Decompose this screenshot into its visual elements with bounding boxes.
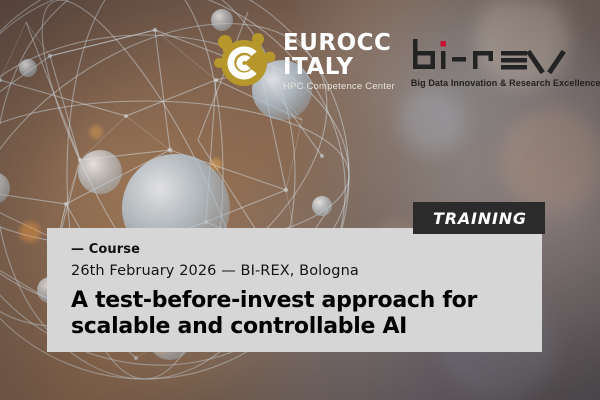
eurocc-atom-mark-icon (212, 30, 276, 94)
eurocc-line1: EUROCC (283, 32, 395, 55)
eurocc-line2: ITALY (283, 56, 395, 79)
event-date-location: 26th February 2026 — BI-REX, Bologna (71, 262, 542, 280)
event-title: A test-before-invest approach for scalab… (71, 288, 542, 339)
eurocc-italy-logo: EUROCC ITALY HPC Competence Center (212, 30, 395, 94)
status-badge: TRAINING (413, 202, 545, 234)
birex-wordmark-icon (411, 37, 581, 75)
event-title-line1: A test-before-invest approach for (71, 288, 477, 313)
eurocc-wordmark: EUROCC ITALY HPC Competence Center (283, 32, 395, 92)
eurocc-tagline: HPC Competence Center (283, 82, 395, 92)
logo-row: EUROCC ITALY HPC Competence Center (212, 30, 600, 94)
event-banner: EUROCC ITALY HPC Competence Center (0, 0, 600, 400)
status-badge-label: TRAINING (433, 209, 527, 228)
event-category: — Course (71, 242, 542, 258)
birex-logo: Big Data Innovation & Research Excellenc… (411, 37, 600, 88)
birex-tagline: Big Data Innovation & Research Excellenc… (411, 78, 600, 88)
event-title-line2: scalable and controllable AI (71, 314, 542, 339)
event-info-card: — Course 26th February 2026 — BI-REX, Bo… (47, 228, 542, 352)
